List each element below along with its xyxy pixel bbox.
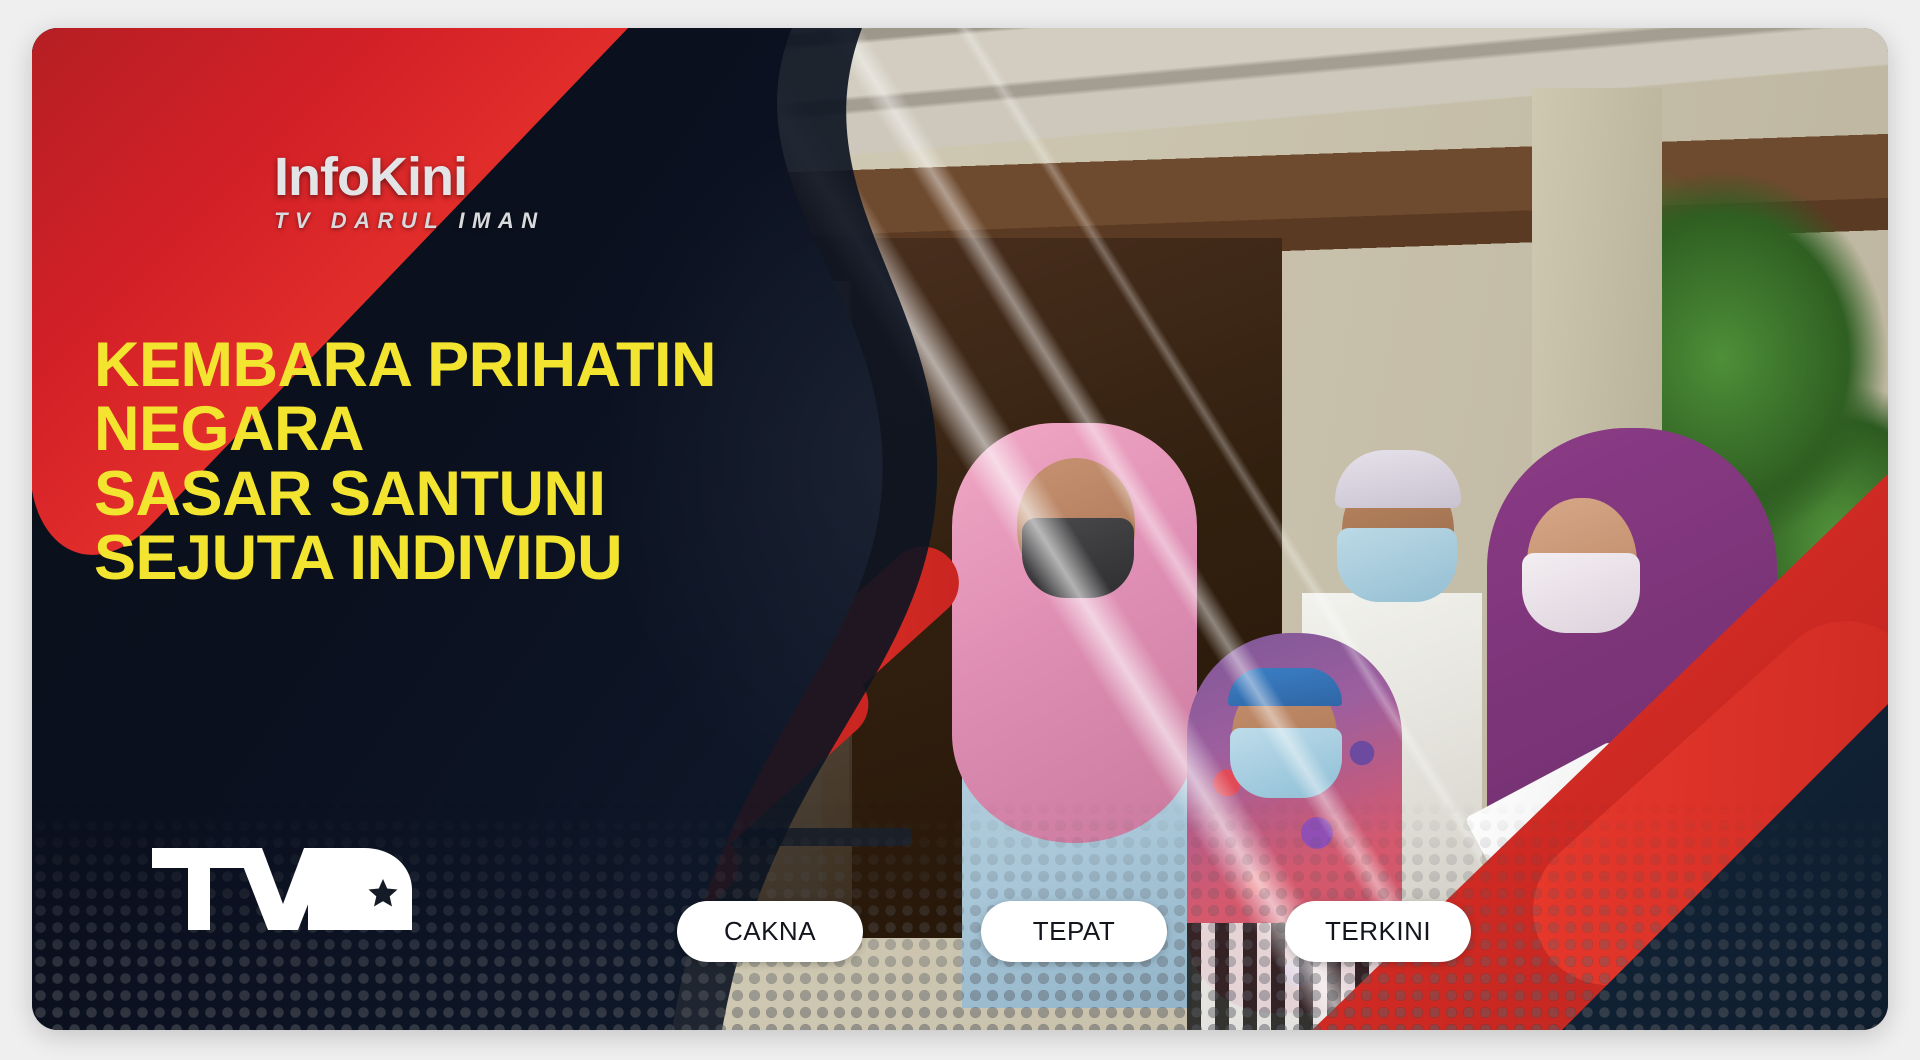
brand-subtitle: TV DARUL IMAN xyxy=(274,208,545,234)
photo-person-floral-facemask xyxy=(1230,728,1342,798)
tvd-station-logo xyxy=(150,846,420,932)
tag-pill-terkini[interactable]: TERKINI xyxy=(1285,901,1471,962)
headline-line-2: NEGARA xyxy=(94,397,774,461)
headline-line-4: SEJUTA INDIVIDU xyxy=(94,526,774,590)
photo-person-pink-facemask xyxy=(1022,518,1134,598)
tag-pill-group: CAKNA TEPAT TERKINI xyxy=(677,901,1471,962)
tag-pill-cakna[interactable]: CAKNA xyxy=(677,901,863,962)
page-title: KEMBARA PRIHATIN NEGARA SASAR SANTUNI SE… xyxy=(94,333,774,590)
tag-pill-tepat[interactable]: TEPAT xyxy=(981,901,1167,962)
photo-person-purple-facemask xyxy=(1522,553,1640,633)
photo-person-man-facemask xyxy=(1337,528,1457,602)
headline-line-3: SASAR SANTUNI xyxy=(94,462,774,526)
photo-person-floral-headband xyxy=(1228,668,1342,706)
brand-lockup: InfoKini TV DARUL IMAN xyxy=(274,150,545,234)
photo-person-man-kopiah xyxy=(1335,450,1461,508)
brand-name: InfoKini xyxy=(274,150,545,204)
headline-line-1: KEMBARA PRIHATIN xyxy=(94,333,774,397)
news-graphic-card: InfoKini TV DARUL IMAN KEMBARA PRIHATIN … xyxy=(32,28,1888,1030)
